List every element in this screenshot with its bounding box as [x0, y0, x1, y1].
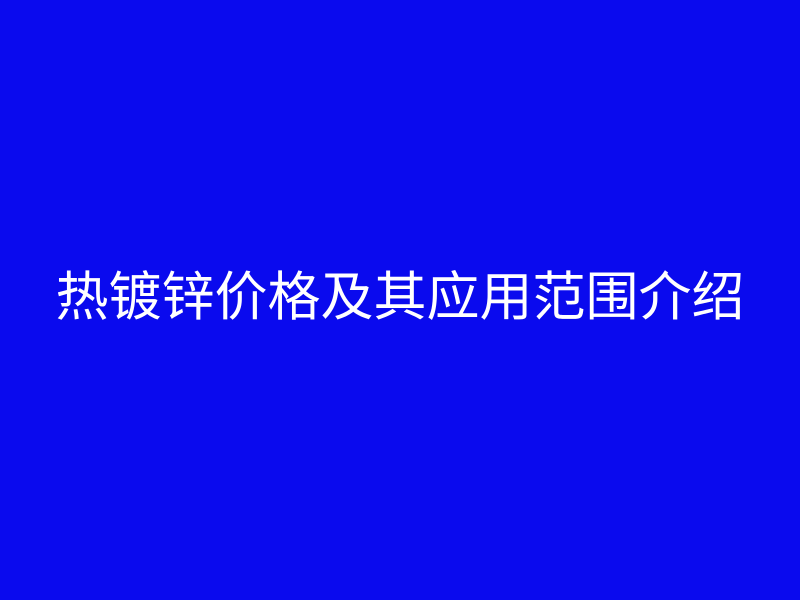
page-title: 热镀锌价格及其应用范围介绍 — [56, 271, 745, 324]
title-band: 热镀锌价格及其应用范围介绍 — [0, 0, 800, 600]
banner-slide: 热镀锌价格及其应用范围介绍 — [0, 0, 800, 600]
